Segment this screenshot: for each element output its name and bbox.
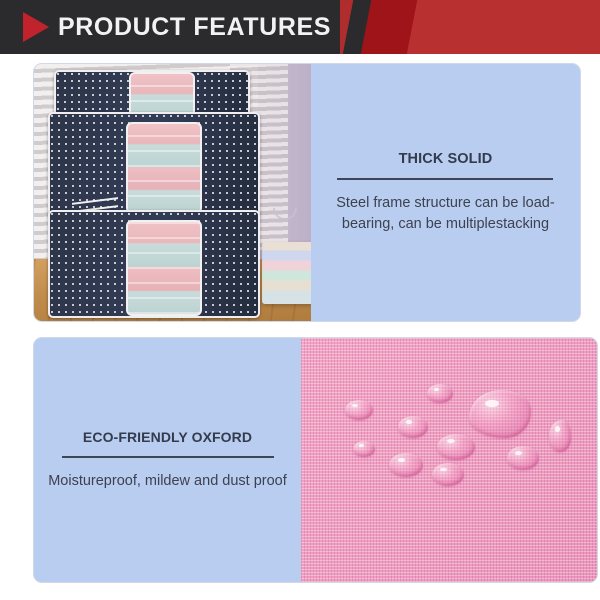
play-triangle-icon — [23, 12, 49, 42]
feature-text-eco-friendly-oxford: ECO-FRIENDLY OXFORD Moistureproof, milde… — [34, 338, 301, 582]
storage-box-window-middle — [126, 122, 202, 214]
feature-divider — [337, 178, 553, 180]
water-droplet — [353, 441, 375, 457]
water-droplet — [437, 434, 475, 460]
header-banner: PRODUCT FEATURES — [0, 0, 600, 54]
feature-card-thick-solid: THICK SOLID Steel frame structure can be… — [33, 63, 581, 322]
feature-description: Moistureproof, mildew and dust proof — [48, 471, 287, 492]
page-title: PRODUCT FEATURES — [58, 9, 331, 45]
product-features-infographic: PRODUCT FEATURES THICK SOLID Steel — [0, 0, 600, 600]
pink-oxford-fabric-photo — [301, 338, 597, 582]
water-droplet — [427, 384, 453, 403]
storage-box-photo — [34, 64, 311, 321]
fabric-weave-texture — [301, 338, 597, 582]
water-droplet — [345, 400, 373, 420]
feature-divider — [62, 456, 274, 458]
photo-folded-towels-stack — [262, 242, 311, 304]
water-droplet — [432, 463, 464, 486]
feature-heading: THICK SOLID — [399, 151, 493, 167]
water-droplet — [507, 446, 539, 470]
feature-description: Steel frame structure can be load-bearin… — [325, 193, 566, 235]
water-droplet — [389, 453, 423, 477]
feature-card-eco-friendly-oxford: ECO-FRIENDLY OXFORD Moistureproof, milde… — [33, 337, 598, 583]
storage-box-window-lower — [126, 220, 202, 316]
water-droplet — [398, 416, 428, 438]
feature-heading: ECO-FRIENDLY OXFORD — [83, 429, 252, 445]
feature-text-thick-solid: THICK SOLID Steel frame structure can be… — [311, 64, 580, 321]
water-droplet-edge — [549, 420, 571, 452]
water-droplet-large — [469, 390, 531, 438]
header-red-band-outer — [397, 0, 600, 54]
